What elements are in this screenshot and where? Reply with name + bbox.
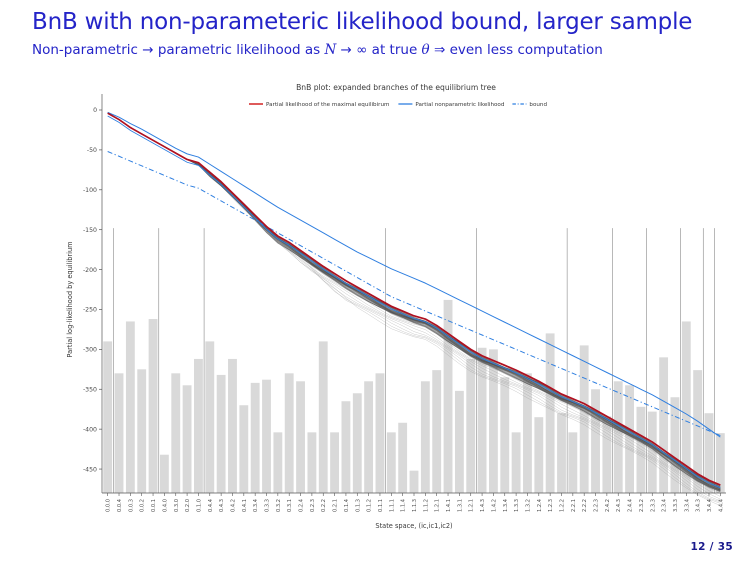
y-tick-label: -50 <box>87 147 97 154</box>
x-tick-label: 0.1.1 <box>378 499 384 512</box>
bar <box>171 373 180 493</box>
x-tick-label: 3.4.4 <box>707 499 713 512</box>
x-tick-label: 0.2.3 <box>310 499 316 512</box>
bar <box>330 432 339 493</box>
bar <box>126 321 135 493</box>
y-tick-label: -300 <box>83 347 97 354</box>
bar <box>421 381 430 493</box>
subtitle-symbol-theta: θ <box>422 42 430 58</box>
bar <box>500 377 509 493</box>
bar <box>115 373 124 493</box>
bar <box>205 341 214 493</box>
x-tick-label: 0.4.3 <box>219 499 225 512</box>
bnb-chart-figure: BnB plot: expanded branches of the equil… <box>60 78 732 538</box>
x-tick-label: 0.3.2 <box>276 499 282 512</box>
bar <box>217 375 226 493</box>
x-tick-label: 0.3.1 <box>287 499 293 512</box>
y-tick-label: -250 <box>83 307 97 314</box>
x-tick-label: 1.1.4 <box>401 499 407 512</box>
x-tick-label: 1.3.4 <box>503 499 509 512</box>
y-axis-label: Partial log-likelihood by equilibrium <box>66 241 74 357</box>
x-axis-label: State space, (ic,ic1,ic2) <box>375 522 452 530</box>
x-tick-label: 0.3.0 <box>174 499 180 512</box>
subtitle-segment-1: Non-parametric → parametric likelihood a… <box>32 42 324 58</box>
bar <box>160 455 169 493</box>
bar <box>364 381 373 493</box>
chart-title: BnB plot: expanded branches of the equil… <box>296 83 496 92</box>
bar <box>648 412 657 493</box>
x-tick-label: 0.4.1 <box>242 499 248 512</box>
x-tick-label: 1.4.2 <box>491 499 497 512</box>
x-tick-label: 0.0.2 <box>140 499 146 512</box>
bar <box>194 359 203 493</box>
bar <box>534 417 543 493</box>
bar <box>319 341 328 493</box>
x-tick-label: 0.2.2 <box>321 499 327 512</box>
x-tick-label: 2.2.1 <box>571 499 577 512</box>
y-tick-label: -100 <box>83 187 97 194</box>
x-tick-label: 3.3.3 <box>673 499 679 512</box>
bar <box>398 423 407 493</box>
bar <box>410 471 419 493</box>
subtitle-symbol-N: N <box>324 42 336 58</box>
bar <box>568 432 577 493</box>
y-tick-label: -150 <box>83 227 97 234</box>
x-tick-label: 0.4.2 <box>230 499 236 512</box>
bar <box>296 381 305 493</box>
x-tick-label: 1.3.2 <box>525 499 531 512</box>
x-tick-label: 2.3.3 <box>650 499 656 512</box>
bar <box>262 380 271 493</box>
bar <box>659 357 668 493</box>
bar <box>546 333 555 493</box>
bar <box>444 300 453 493</box>
x-tick-label: 2.2.2 <box>582 499 588 512</box>
vertical-gridlines <box>113 228 714 493</box>
x-tick-label: 2.3.4 <box>662 499 668 512</box>
plot-area <box>103 112 725 505</box>
x-tick-label: 1.2.2 <box>559 499 565 512</box>
x-tick-label: 0.1.0 <box>196 499 202 512</box>
y-tick-label: 0 <box>93 107 97 114</box>
x-tick-label: 0.4.4 <box>208 499 214 512</box>
page-subtitle: Non-parametric → parametric likelihood a… <box>32 42 603 58</box>
x-tick-label: 1.2.1 <box>435 499 441 512</box>
bar <box>285 373 294 493</box>
bar <box>557 413 566 493</box>
bar <box>512 432 521 493</box>
bar <box>137 369 146 493</box>
x-tick-label: 0.1.3 <box>355 499 361 512</box>
chart-canvas: BnB plot: expanded branches of the equil… <box>60 78 732 538</box>
x-tick-label: 0.2.1 <box>333 499 339 512</box>
y-tick-label: -400 <box>83 426 97 433</box>
y-tick-label: -200 <box>83 267 97 274</box>
x-tick-label: 1.1.3 <box>412 499 418 512</box>
legend-label-2: bound <box>529 102 547 108</box>
bar <box>376 373 385 493</box>
bar <box>149 319 158 493</box>
bar <box>387 432 396 493</box>
page-number: 12 / 35 <box>691 541 733 553</box>
bar-series-expansion-count <box>103 300 725 493</box>
x-tick-label: 1.1.2 <box>423 499 429 512</box>
x-axis: 0.0.00.0.40.0.30.0.20.0.10.4.00.3.00.2.0… <box>102 493 726 512</box>
bar <box>251 383 260 493</box>
x-tick-label: 0.0.4 <box>117 499 123 512</box>
x-tick-label: 3.4.3 <box>696 499 702 512</box>
bar <box>183 385 192 493</box>
x-tick-label: 0.0.0 <box>106 499 112 512</box>
x-tick-label: 0.2.4 <box>299 499 305 512</box>
slide-root: BnB with non-parameteric likelihood boun… <box>0 0 755 567</box>
bar <box>591 389 600 493</box>
x-tick-label: 2.4.3 <box>616 499 622 512</box>
legend-label-1: Partial nonparametric likelihood <box>415 102 504 108</box>
bar <box>455 391 464 493</box>
x-tick-label: 3.3.4 <box>684 499 690 512</box>
x-tick-label: 0.1.4 <box>344 499 350 512</box>
bar <box>671 397 680 493</box>
bar <box>228 359 237 493</box>
x-tick-label: 1.3.3 <box>514 499 520 512</box>
bar <box>342 401 351 493</box>
bar <box>239 405 248 493</box>
x-tick-label: 2.4.4 <box>628 499 634 512</box>
y-tick-label: -350 <box>83 386 97 393</box>
x-tick-label: 1.2.4 <box>537 499 543 512</box>
subtitle-segment-3: ⇒ even less computation <box>430 42 603 58</box>
x-tick-label: 0.3.3 <box>265 499 271 512</box>
x-tick-label: 1.3.1 <box>457 499 463 512</box>
bar <box>103 341 112 493</box>
x-tick-label: 4.4.4 <box>718 499 724 512</box>
x-tick-label: 1.4.3 <box>480 499 486 512</box>
x-tick-label: 0.1.2 <box>367 499 373 512</box>
bar <box>353 393 362 493</box>
x-tick-label: 0.4.0 <box>162 499 168 512</box>
bar <box>307 432 316 493</box>
legend-label-0: Partial likelihood of the maximal equili… <box>266 102 389 108</box>
x-tick-label: 1.1.1 <box>389 499 395 512</box>
bar <box>466 359 475 493</box>
x-tick-label: 0.0.1 <box>151 499 157 512</box>
x-tick-label: 0.3.4 <box>253 499 259 512</box>
bar <box>432 370 441 493</box>
x-tick-label: 2.3.2 <box>639 499 645 512</box>
bar <box>614 381 623 493</box>
y-axis: 0-50-100-150-200-250-300-350-400-450 <box>83 94 102 493</box>
x-tick-label: 1.4.1 <box>446 499 452 512</box>
y-tick-label: -450 <box>83 466 97 473</box>
bar <box>273 432 282 493</box>
subtitle-segment-2: → ∞ at true <box>336 42 421 58</box>
x-tick-label: 1.2.1 <box>469 499 475 512</box>
x-tick-label: 0.2.0 <box>185 499 191 512</box>
page-title: BnB with non-parameteric likelihood boun… <box>32 9 692 35</box>
x-tick-label: 2.2.3 <box>594 499 600 512</box>
x-tick-label: 1.2.3 <box>548 499 554 512</box>
x-tick-label: 2.4.2 <box>605 499 611 512</box>
chart-legend: Partial likelihood of the maximal equili… <box>249 102 547 108</box>
x-tick-label: 0.0.3 <box>128 499 134 512</box>
